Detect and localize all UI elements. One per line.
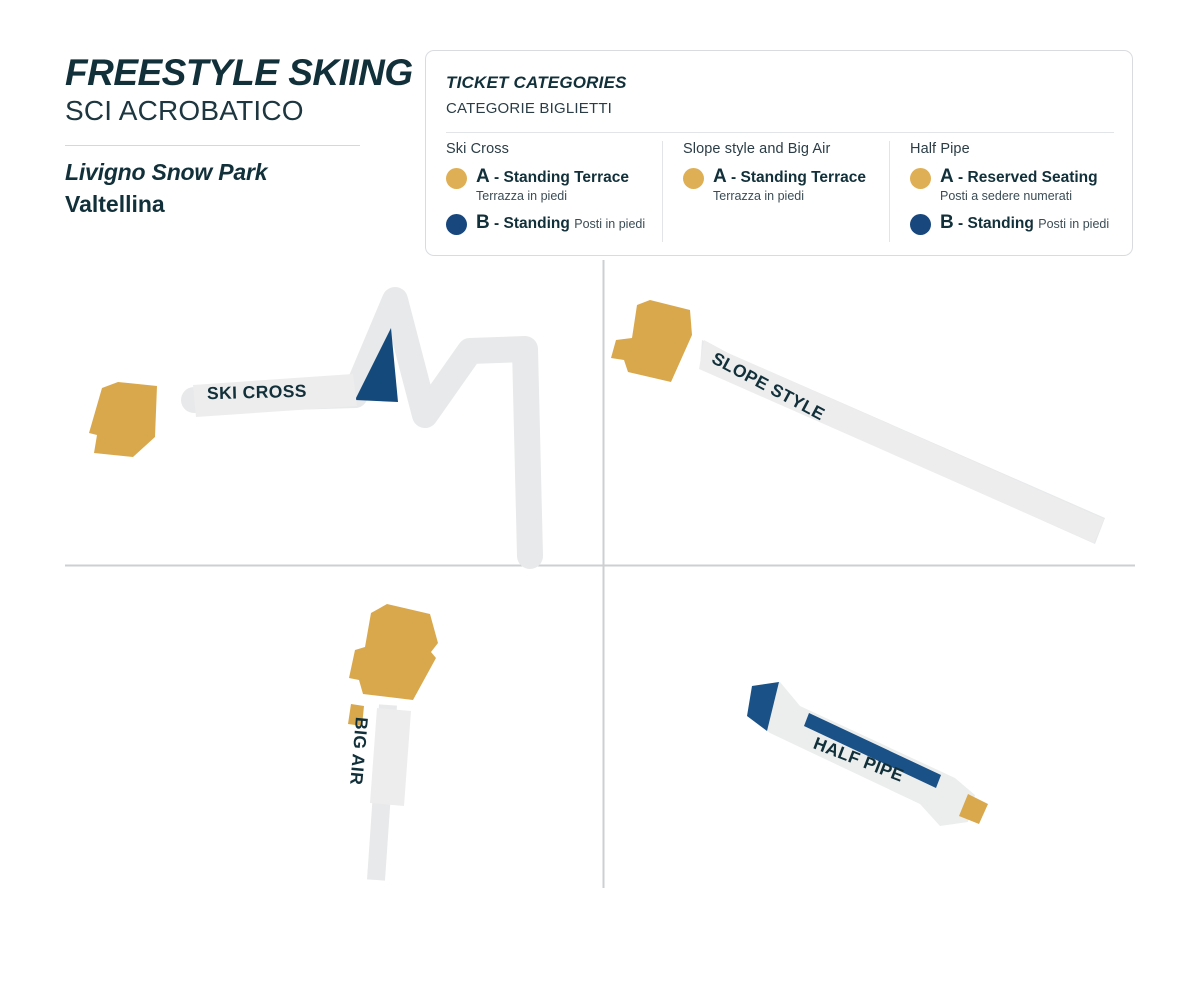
ski-cross-zone-a-gold bbox=[89, 382, 157, 457]
venue-shape-slope-style bbox=[611, 300, 1105, 544]
slope-style-zone-a-gold bbox=[611, 300, 692, 382]
legend-columns: Ski Cross A - Standing Terrace Terrazza … bbox=[426, 141, 1134, 242]
legend-entry-label: - Standing bbox=[954, 215, 1034, 232]
half-pipe-course bbox=[748, 682, 975, 826]
legend-entry-slope-style-a: A - Standing Terrace Terrazza in piedi bbox=[683, 166, 889, 205]
category-letter: A bbox=[476, 166, 490, 187]
slope-style-course bbox=[700, 340, 1105, 544]
legend-entry-main: A - Standing Terrace bbox=[713, 169, 866, 186]
legend-entry-label-italian: Terrazza in piedi bbox=[713, 189, 804, 203]
ski-cross-course bbox=[194, 300, 530, 556]
ski-cross-label-strip bbox=[193, 374, 357, 417]
big-air-course bbox=[376, 705, 388, 880]
ski-cross-zone-b-navy bbox=[355, 328, 398, 402]
half-pipe-zone-b-navy-cap bbox=[747, 682, 779, 731]
title-divider bbox=[65, 145, 360, 146]
big-air-zone-a-gold bbox=[349, 604, 438, 700]
half-pipe-zone-b-navy-stripe bbox=[804, 713, 941, 788]
category-letter: B bbox=[476, 212, 490, 233]
page-title-italian: SCI ACROBATICO bbox=[65, 95, 415, 127]
legend-entry-label: - Standing Terrace bbox=[727, 169, 866, 186]
venue-map-page: SKI CROSS SLOPE STYLE BIG AIR HALF PIPE … bbox=[0, 0, 1200, 1000]
category-letter: A bbox=[940, 166, 954, 187]
legend-entry-half-pipe-a: A - Reserved Seating Posti a sedere nume… bbox=[910, 166, 1134, 205]
venue-label-slope-style: SLOPE STYLE bbox=[708, 348, 828, 425]
legend-entry-ski-cross-b: B - Standing Posti in piedi bbox=[446, 212, 662, 235]
venue-shape-ski-cross bbox=[89, 300, 530, 556]
ticket-categories-panel: TICKET CATEGORIES CATEGORIE BIGLIETTI Sk… bbox=[425, 50, 1133, 256]
venue-region: Valtellina bbox=[65, 190, 415, 219]
big-air-zone-a-gold-small bbox=[348, 704, 364, 726]
legend-entry-label: - Standing bbox=[490, 215, 570, 232]
legend-entry-main: B - Standing bbox=[940, 215, 1034, 232]
legend-entry-label: - Standing Terrace bbox=[490, 169, 629, 186]
venue-label-ski-cross: SKI CROSS bbox=[207, 381, 307, 405]
category-dot-icon bbox=[910, 214, 931, 235]
legend-entry-main: B - Standing bbox=[476, 215, 570, 232]
legend-entry-ski-cross-a: A - Standing Terrace Terrazza in piedi bbox=[446, 166, 662, 205]
legend-column-half-pipe: Half Pipe A - Reserved Seating Posti a s… bbox=[889, 141, 1134, 242]
category-dot-icon bbox=[446, 168, 467, 189]
venue-name: Livigno Snow Park bbox=[65, 159, 415, 187]
legend-subtitle: CATEGORIE BIGLIETTI bbox=[446, 100, 612, 117]
legend-entry-main: A - Standing Terrace bbox=[476, 169, 629, 186]
legend-entry-label-italian: Posti in piedi bbox=[574, 217, 645, 231]
venue-label-half-pipe: HALF PIPE bbox=[810, 733, 906, 787]
category-dot-icon bbox=[446, 214, 467, 235]
legend-column-heading: Ski Cross bbox=[446, 141, 662, 157]
legend-title: TICKET CATEGORIES bbox=[446, 73, 627, 93]
page-title: FREESTYLE SKIING bbox=[65, 54, 415, 92]
legend-entry-half-pipe-b: B - Standing Posti in piedi bbox=[910, 212, 1134, 235]
legend-entry-label-italian: Posti in piedi bbox=[1038, 217, 1109, 231]
legend-column-slope-style-big-air: Slope style and Big Air A - Standing Ter… bbox=[662, 141, 889, 242]
category-dot-icon bbox=[910, 168, 931, 189]
legend-column-ski-cross: Ski Cross A - Standing Terrace Terrazza … bbox=[426, 141, 662, 242]
venue-label-big-air: BIG AIR bbox=[345, 716, 372, 786]
category-letter: A bbox=[713, 166, 727, 187]
category-dot-icon bbox=[683, 168, 704, 189]
title-block: FREESTYLE SKIING SCI ACROBATICO Livigno … bbox=[65, 54, 415, 218]
big-air-label-strip bbox=[370, 708, 411, 806]
venue-shape-big-air bbox=[348, 604, 438, 880]
legend-column-heading: Half Pipe bbox=[910, 141, 1134, 157]
venue-shape-half-pipe bbox=[747, 682, 988, 826]
legend-column-heading: Slope style and Big Air bbox=[683, 141, 889, 157]
legend-entry-main: A - Reserved Seating bbox=[940, 169, 1098, 186]
category-letter: B bbox=[940, 212, 954, 233]
legend-divider bbox=[446, 132, 1114, 133]
legend-entry-label-italian: Posti a sedere numerati bbox=[940, 189, 1072, 203]
half-pipe-zone-a-gold-cap bbox=[959, 794, 988, 824]
legend-entry-label: - Reserved Seating bbox=[954, 169, 1098, 186]
legend-entry-label-italian: Terrazza in piedi bbox=[476, 189, 567, 203]
slope-style-label-strip bbox=[699, 340, 1104, 543]
